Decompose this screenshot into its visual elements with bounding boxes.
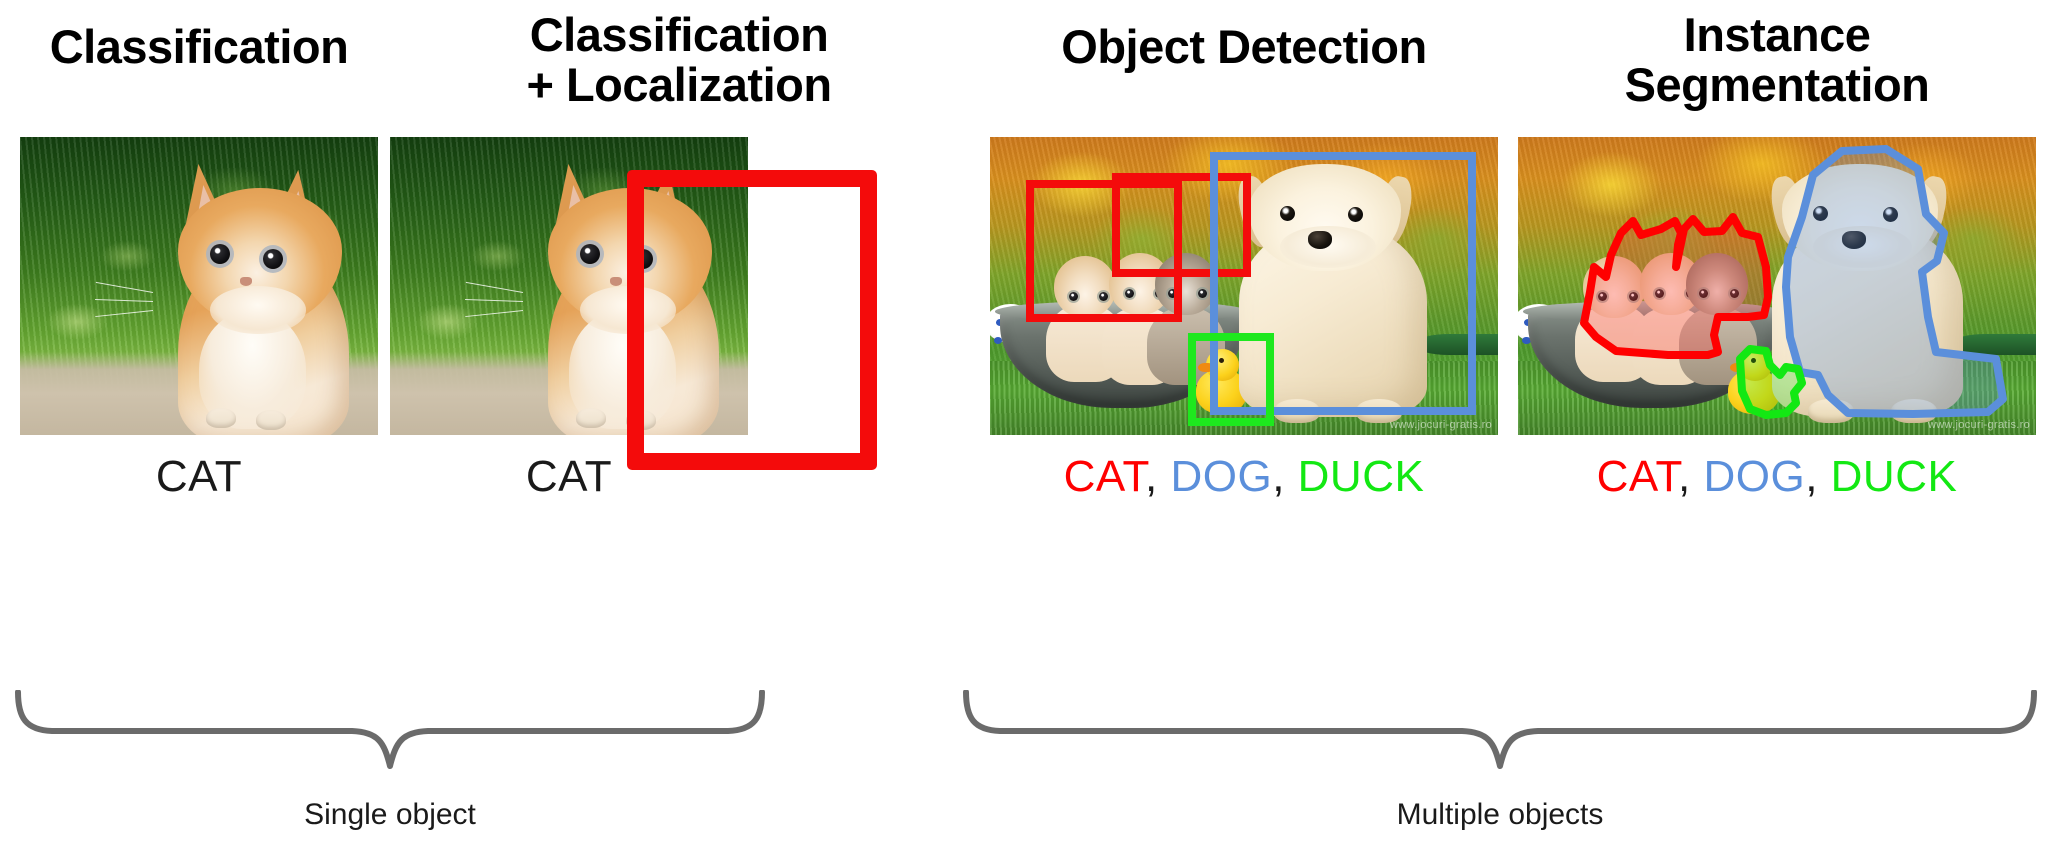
bounding-box-duck xyxy=(1188,333,1274,426)
kitten-whisker xyxy=(96,282,153,293)
kitten-paw-left xyxy=(206,408,236,428)
class-label-duck: DUCK xyxy=(1298,452,1425,501)
pets-photo: www.jocuri-gratis.ro xyxy=(990,137,1498,435)
class-label-cat: CAT xyxy=(1597,452,1678,501)
class-label-separator: , xyxy=(1678,452,1703,501)
kitten-whisker xyxy=(466,282,523,293)
kitten-whisker xyxy=(465,310,523,317)
group-label-single-object: Single object xyxy=(12,798,768,832)
kitten-eye-left xyxy=(580,244,600,264)
segmentation-overlay xyxy=(1518,137,2036,435)
kitten-paw-left xyxy=(576,408,606,428)
kitten-whisker xyxy=(95,310,153,317)
class-label-dog: DOG xyxy=(1703,452,1805,501)
kitten-paw-right xyxy=(256,410,286,430)
kitten-whisker xyxy=(465,299,523,302)
pets-photo: www.jocuri-gratis.ro xyxy=(1518,137,2036,435)
kitten-muzzle xyxy=(210,286,307,334)
column-title-instance-segmentation: Instance Segmentation xyxy=(1518,10,2036,110)
class-label-instance-segmentation: CAT, DOG, DUCK xyxy=(1518,452,2036,502)
class-label-separator: , xyxy=(1805,452,1830,501)
image-panel-object-detection: www.jocuri-gratis.ro xyxy=(990,137,1498,435)
segmentation-mask-dog xyxy=(1786,149,2003,414)
kitten-whisker xyxy=(95,299,153,302)
class-label-separator: , xyxy=(1272,452,1297,501)
brace-single-object xyxy=(12,690,768,776)
class-label-object-detection: CAT, DOG, DUCK xyxy=(990,452,1498,502)
image-panel-instance-segmentation: www.jocuri-gratis.ro xyxy=(1518,137,2036,435)
class-label-dog: DOG xyxy=(1170,452,1272,501)
class-label-classification-localization: CAT xyxy=(390,452,748,502)
kitten-eye-left xyxy=(210,244,230,264)
class-label-cat: CAT xyxy=(1064,452,1145,501)
class-label-duck: DUCK xyxy=(1831,452,1958,501)
column-title-classification-localization: Classification + Localization xyxy=(390,10,968,110)
bounding-box-cat xyxy=(627,170,877,470)
column-title-classification: Classification xyxy=(20,22,378,72)
column-title-object-detection: Object Detection xyxy=(990,22,1498,72)
group-label-multiple-objects: Multiple objects xyxy=(960,798,2040,832)
brace-multiple-objects xyxy=(960,690,2040,776)
class-label-separator: , xyxy=(1145,452,1170,501)
segmentation-mask-cat xyxy=(1584,217,1768,355)
image-panel-classification xyxy=(20,137,378,435)
class-label-cat: CAT xyxy=(156,452,242,501)
kitten-photo xyxy=(20,137,378,435)
class-label-classification: CAT xyxy=(20,452,378,502)
class-label-cat: CAT xyxy=(526,452,612,501)
